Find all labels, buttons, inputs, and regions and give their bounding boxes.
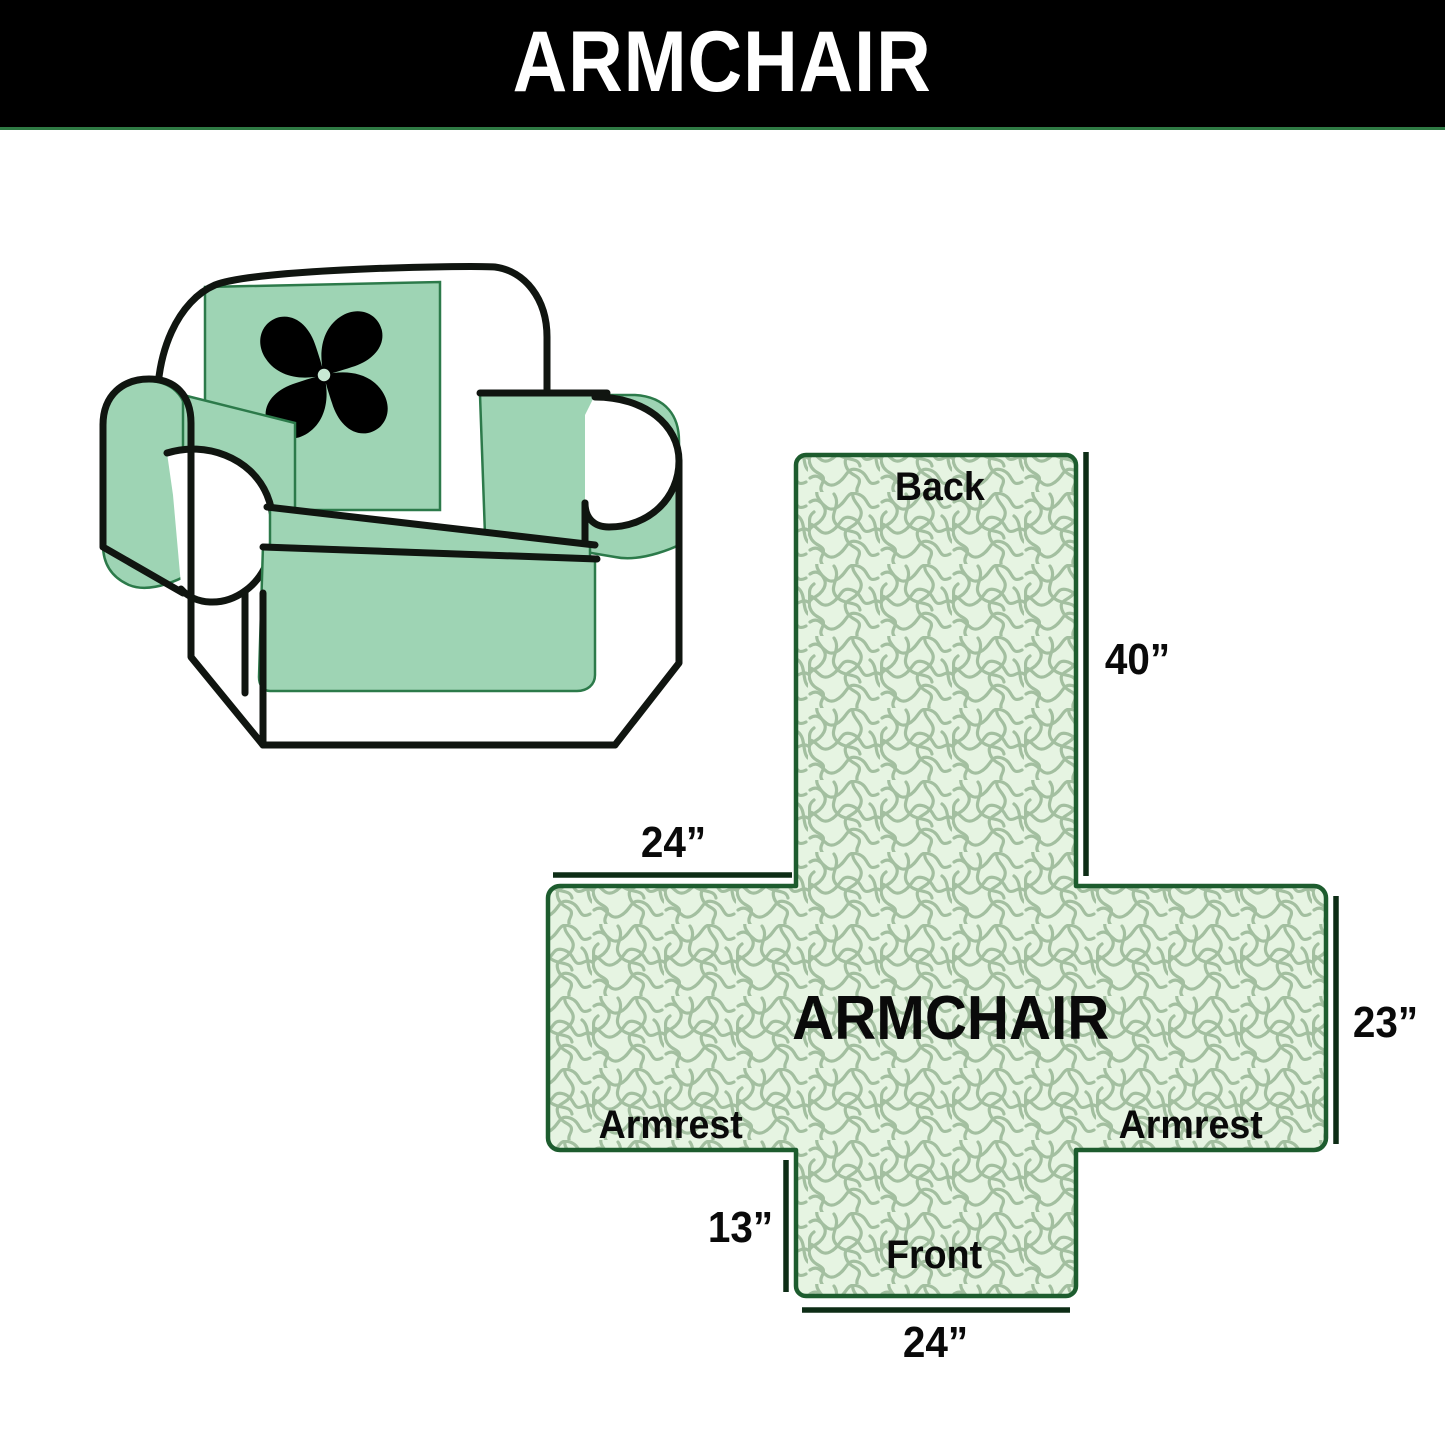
dimension-label-back-width: 24” bbox=[641, 818, 706, 868]
panel-label-center: ARMCHAIR bbox=[792, 983, 1109, 1054]
page-title: ARMCHAIR bbox=[513, 19, 932, 105]
dimension-label-front-height: 13” bbox=[708, 1203, 773, 1253]
panel-label-armrest-left: Armrest bbox=[599, 1103, 743, 1148]
slipcover-pattern-diagram: .fab { fill:url(#quilt); stroke:#1d5c2e;… bbox=[520, 420, 1445, 1380]
dimension-label-back-height: 40” bbox=[1105, 635, 1170, 685]
panel-label-front: Front bbox=[886, 1233, 982, 1278]
cross-pattern-svg: .fab { fill:url(#quilt); stroke:#1d5c2e;… bbox=[520, 420, 1445, 1380]
panel-label-back: Back bbox=[895, 465, 985, 510]
dimension-label-front-width: 24” bbox=[903, 1318, 968, 1368]
page-root: ARMCHAIR .ol { fill:none; stroke:#101510… bbox=[0, 0, 1445, 1445]
header-bar: ARMCHAIR bbox=[0, 0, 1445, 130]
panel-label-armrest-right: Armrest bbox=[1119, 1103, 1263, 1148]
dimension-label-armrest-height: 23” bbox=[1353, 998, 1418, 1048]
